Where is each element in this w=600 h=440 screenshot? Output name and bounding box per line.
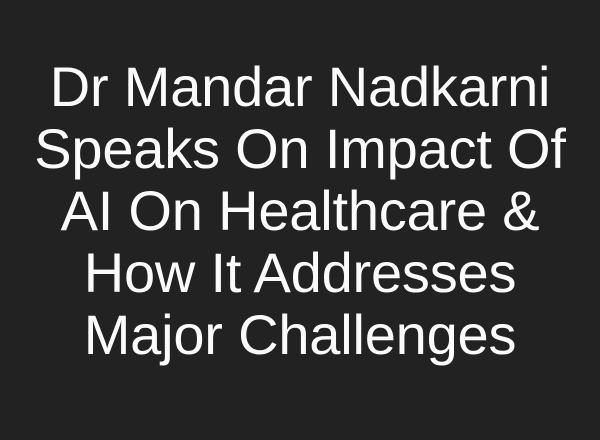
headline-line-1: Dr Mandar Nadkarni	[12, 56, 588, 118]
page-title: Dr Mandar Nadkarni Speaks On Impact Of A…	[12, 56, 588, 366]
headline-line-5: Major Challenges	[12, 304, 588, 366]
headline-line-4: How It Addresses	[12, 242, 588, 304]
headline-card: Dr Mandar Nadkarni Speaks On Impact Of A…	[0, 0, 600, 440]
headline-line-2: Speaks On Impact Of	[12, 118, 588, 180]
headline-line-3: AI On Healthcare &	[12, 180, 588, 242]
